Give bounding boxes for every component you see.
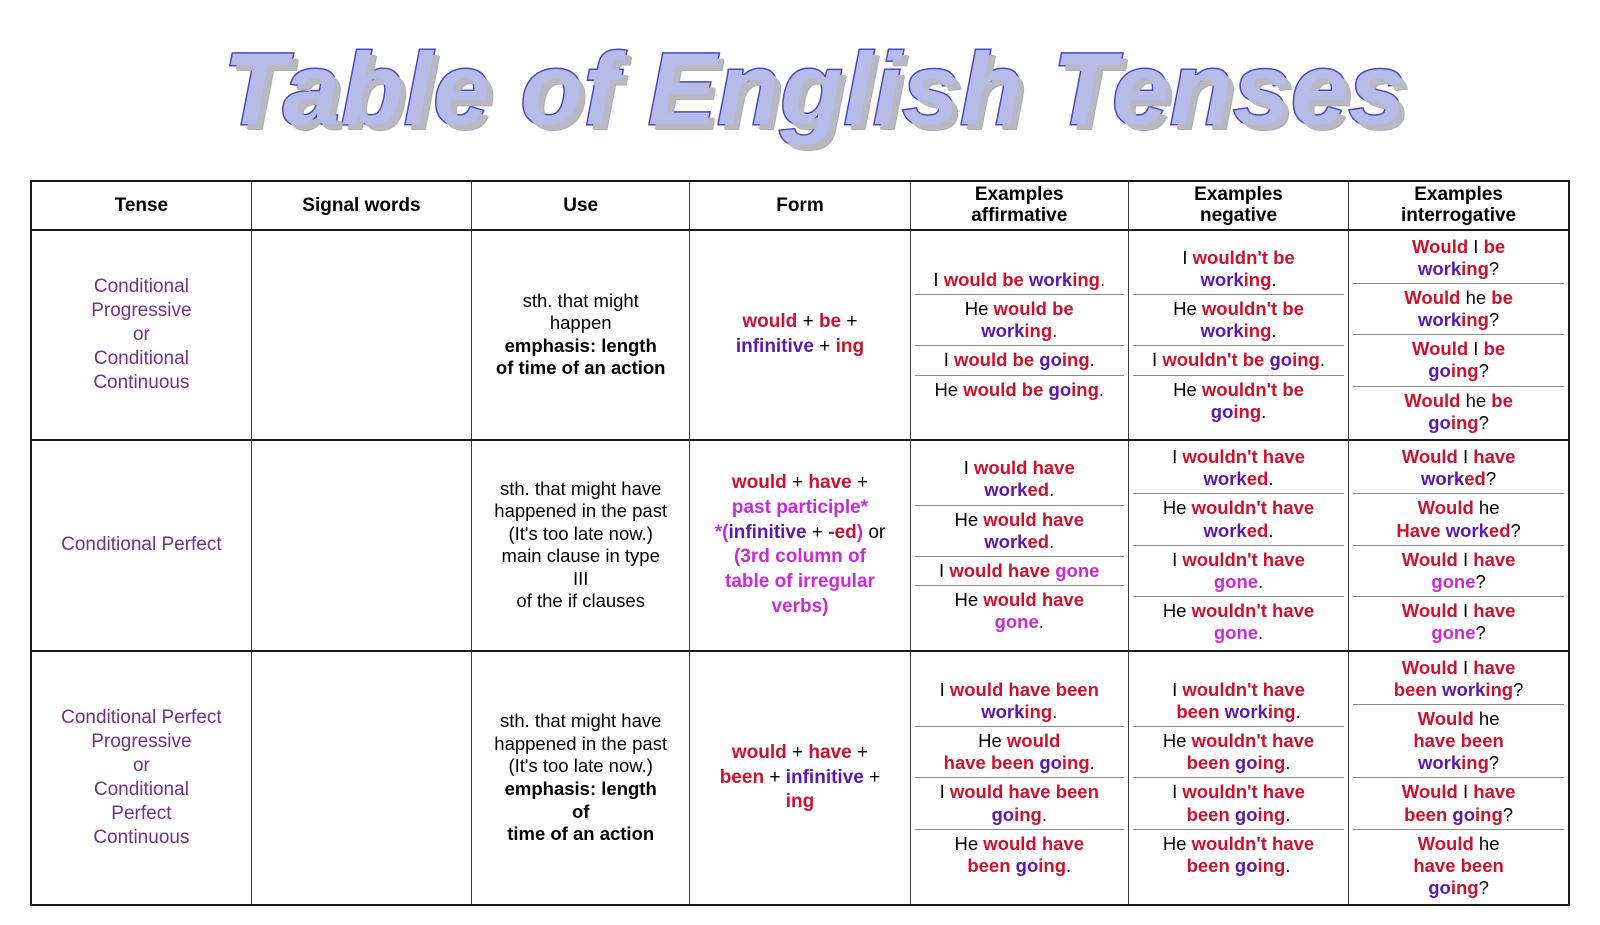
text-token: work: [984, 479, 1027, 500]
example-line: gone.: [1137, 571, 1340, 593]
text-token: I: [1172, 549, 1182, 570]
examples-list: Would I havebeen working?Would hehave be…: [1353, 654, 1564, 903]
text-token: work: [981, 701, 1024, 722]
example-line: Would he: [1357, 708, 1560, 730]
example-sentence: I would have beenworking.: [915, 676, 1124, 727]
text-token: gone: [1055, 560, 1099, 581]
example-line: He would have: [919, 833, 1120, 855]
example-row: I wouldn't havebeen working.: [1133, 676, 1344, 727]
text-token: or: [863, 522, 885, 543]
text-token: -ed: [828, 522, 857, 543]
text-token: ed: [1464, 468, 1486, 489]
example-line: going?: [1357, 877, 1560, 899]
use-line: sth. that might: [476, 290, 685, 313]
text-token: .: [1049, 479, 1054, 500]
header-row: TenseSignal wordsUseFormExamplesaffirmat…: [31, 181, 1569, 230]
text-token: would be: [963, 379, 1048, 400]
text-token: ing: [1268, 701, 1296, 722]
text-token: gone: [1214, 571, 1258, 592]
example-sentence: Would hehave beenworking?: [1353, 704, 1564, 778]
example-row: I would haveworked.: [915, 454, 1124, 505]
example-line: I would have: [919, 457, 1120, 479]
example-row: Would I havegone?: [1353, 545, 1564, 596]
title-banner: Table of English Tenses: [0, 0, 1600, 180]
use-line: of time of an action: [476, 357, 685, 380]
text-token: wouldn't be: [1202, 379, 1304, 400]
text-token: past participle*: [732, 497, 868, 518]
text-token: been: [1187, 804, 1235, 825]
form-line: ing: [694, 790, 905, 815]
tense-line: Conditional Perfect: [36, 533, 247, 557]
example-sentence: He wouldn't havebeen going.: [1133, 829, 1344, 880]
text-token: would have been: [950, 781, 1099, 802]
header-line-2: interrogative: [1353, 205, 1564, 226]
text-token: wouldn't be: [1162, 349, 1269, 370]
column-header-examples-affirmative: Examplesaffirmative: [910, 181, 1128, 230]
text-token: ?: [1513, 679, 1523, 700]
text-token: work: [1442, 679, 1485, 700]
text-token: go: [1235, 804, 1258, 825]
example-line: I wouldn't have: [1137, 446, 1340, 468]
example-row: Would I begoing?: [1353, 335, 1564, 386]
example-line: worked.: [1137, 468, 1340, 490]
text-token: ing: [1244, 269, 1272, 290]
text-token: wouldn't have: [1192, 600, 1315, 621]
text-token: Have: [1396, 520, 1445, 541]
example-line: He would be: [919, 298, 1120, 320]
example-line: going.: [919, 804, 1120, 826]
example-line: working.: [919, 701, 1120, 723]
example-line: been working?: [1357, 679, 1560, 701]
text-token: be: [1484, 236, 1506, 257]
text-token: .: [1039, 611, 1044, 632]
text-token: infinitive: [736, 336, 814, 357]
text-token: +: [787, 742, 809, 763]
example-row: He wouldn't haveworked.: [1133, 494, 1344, 545]
text-token: I: [1458, 781, 1473, 802]
text-token: ing: [1451, 360, 1479, 381]
example-sentence: I wouldn't havebeen working.: [1133, 676, 1344, 727]
example-line: Would I have: [1357, 781, 1560, 803]
example-row: Would heHave worked?: [1353, 494, 1564, 545]
text-token: would have: [974, 457, 1075, 478]
example-line: He wouldn't be: [1137, 298, 1340, 320]
example-row: He wouldn't beworking.: [1133, 295, 1344, 346]
example-row: I wouldn't haveworked.: [1133, 443, 1344, 494]
example-row: He would be going.: [915, 375, 1124, 404]
header-line-1: Examples: [1133, 184, 1344, 205]
text-token: He: [1163, 730, 1192, 751]
text-token: work: [1418, 309, 1461, 330]
example-line: going?: [1357, 412, 1560, 434]
example-row: Would I havegone?: [1353, 597, 1564, 648]
example-line: I would be working.: [919, 269, 1120, 291]
text-token: Would: [1402, 781, 1458, 802]
text-token: ing: [1062, 752, 1090, 773]
text-token: ing: [1485, 679, 1513, 700]
example-row: He would havegone.: [915, 586, 1124, 637]
text-token: go: [991, 804, 1014, 825]
text-token: .: [1099, 379, 1104, 400]
header-line-2: affirmative: [915, 205, 1124, 226]
example-row: Would I beworking?: [1353, 233, 1564, 284]
text-token: have: [808, 472, 851, 493]
example-row: I wouldn't be going.: [1133, 346, 1344, 375]
text-token: would have: [949, 560, 1055, 581]
example-line: He would have: [919, 509, 1120, 531]
text-token: ?: [1511, 520, 1521, 541]
text-token: ?: [1479, 412, 1489, 433]
example-line: working?: [1357, 258, 1560, 280]
use-line: happened in the past: [476, 733, 685, 756]
text-token: he: [1474, 708, 1500, 729]
text-token: been: [720, 767, 764, 788]
form-line: would + have +: [694, 741, 905, 766]
text-token: ed: [1489, 520, 1511, 541]
example-row: Would I haveworked?: [1353, 443, 1564, 494]
text-token: ?: [1503, 804, 1513, 825]
example-sentence: He would havebeen going.: [915, 829, 1124, 880]
text-token: Would: [1412, 338, 1468, 359]
example-sentence: He wouldn't havebeen going.: [1133, 727, 1344, 778]
table-body: ConditionalProgressiveorConditionalConti…: [31, 230, 1569, 906]
example-sentence: He wouldn't begoing.: [1133, 375, 1344, 426]
use-line: of the if clauses: [476, 590, 685, 613]
text-token: ed: [1247, 520, 1269, 541]
example-row: Would he begoing?: [1353, 386, 1564, 437]
text-token: Would: [1402, 657, 1458, 678]
text-token: Would: [1402, 600, 1458, 621]
example-line: I wouldn't have: [1137, 679, 1340, 701]
use-line: emphasis: length: [476, 778, 685, 801]
text-token: go: [1428, 360, 1451, 381]
example-line: gone?: [1357, 571, 1560, 593]
example-line: been going?: [1357, 804, 1560, 826]
example-line: Would I have: [1357, 446, 1560, 468]
text-token: been: [1187, 752, 1235, 773]
example-sentence: I wouldn't beworking.: [1133, 244, 1344, 295]
example-row: I would have gone: [915, 556, 1124, 585]
text-token: I: [1468, 236, 1483, 257]
text-token: work: [981, 320, 1024, 341]
example-row: He would havebeen going.: [915, 829, 1124, 880]
example-line: gone.: [919, 611, 1120, 633]
tense-label: Conditional PerfectProgressiveorConditio…: [36, 706, 247, 850]
form-line: *(infinitive + -ed) or: [694, 521, 905, 546]
tense-line: Progressive: [36, 730, 247, 754]
text-token: would: [732, 472, 787, 493]
text-token: +: [864, 767, 880, 788]
use-line: sth. that might have: [476, 478, 685, 501]
use-line: main clause in type: [476, 545, 685, 568]
text-token: wouldn't have: [1182, 781, 1305, 802]
text-token: .: [1052, 701, 1057, 722]
tense-label: Conditional Perfect: [36, 533, 247, 557]
text-token: ing: [1014, 804, 1042, 825]
example-sentence: Would I havegone?: [1353, 545, 1564, 596]
header-line-1: Tense: [36, 195, 247, 216]
text-token: wouldn't have: [1182, 679, 1305, 700]
text-token: I: [964, 457, 974, 478]
use-line: time of an action: [476, 823, 685, 846]
example-line: gone?: [1357, 622, 1560, 644]
example-sentence: Would heHave worked?: [1353, 494, 1564, 545]
example-line: Would he be: [1357, 287, 1560, 309]
example-line: He wouldn't have: [1137, 730, 1340, 752]
text-token: .: [1261, 401, 1266, 422]
tense-line: Conditional: [36, 347, 247, 371]
text-token: would be: [954, 349, 1039, 370]
tense-cell: Conditional PerfectProgressiveorConditio…: [31, 651, 251, 906]
example-sentence: I would haveworked.: [915, 454, 1124, 505]
text-token: have: [1473, 446, 1515, 467]
text-token: been: [967, 855, 1015, 876]
text-token: been: [1176, 701, 1224, 722]
use-line: of: [476, 801, 685, 824]
text-token: .: [1285, 855, 1290, 876]
text-token: (3rd column of: [734, 546, 866, 567]
text-token: be: [819, 311, 841, 332]
text-token: have been: [1413, 730, 1504, 751]
example-line: I would have gone: [919, 560, 1120, 582]
text-token: I: [944, 349, 954, 370]
text-token: I: [1468, 338, 1483, 359]
form-line: would + have +: [694, 471, 905, 496]
tense-line: Perfect: [36, 802, 247, 826]
text-token: gone: [995, 611, 1039, 632]
form-line: past participle*: [694, 496, 905, 521]
example-line: been going.: [1137, 804, 1340, 826]
example-line: been going.: [1137, 752, 1340, 774]
text-token: I: [940, 781, 950, 802]
example-row: He wouldn't havebeen going.: [1133, 829, 1344, 880]
example-row: I wouldn't havegone.: [1133, 545, 1344, 596]
text-token: .: [1042, 804, 1047, 825]
text-token: wouldn't have: [1182, 446, 1305, 467]
example-line: I wouldn't have: [1137, 549, 1340, 571]
text-token: ing: [1024, 320, 1052, 341]
example-row: Would he beworking?: [1353, 283, 1564, 334]
header-line-1: Examples: [1353, 184, 1564, 205]
example-line: Would I be: [1357, 338, 1560, 360]
form-line: been + infinitive +: [694, 766, 905, 791]
text-token: work: [984, 531, 1027, 552]
text-token: would: [742, 311, 797, 332]
example-line: Would I have: [1357, 549, 1560, 571]
text-token: have: [1473, 657, 1515, 678]
text-token: ing: [1244, 320, 1272, 341]
text-token: ing: [1292, 349, 1320, 370]
text-token: He: [1173, 379, 1202, 400]
text-token: work: [1204, 520, 1247, 541]
text-token: wouldn't have: [1192, 730, 1315, 751]
text-token: ing: [1461, 309, 1489, 330]
example-sentence: Would he begoing?: [1353, 386, 1564, 437]
text-token: He: [965, 298, 994, 319]
text-token: ing: [1258, 804, 1286, 825]
text-token: +: [814, 336, 836, 357]
example-line: working.: [1137, 269, 1340, 291]
example-line: have been going.: [919, 752, 1120, 774]
page-title: Table of English Tenses: [223, 36, 1406, 143]
text-token: I: [1458, 600, 1473, 621]
table-row: Conditional Perfectsth. that might haveh…: [31, 440, 1569, 651]
text-token: .: [1052, 320, 1057, 341]
examples-affirmative-cell: I would haveworked.He would haveworked.I…: [910, 440, 1128, 651]
text-token: ed: [1247, 468, 1269, 489]
example-sentence: He would beworking.: [915, 295, 1124, 346]
example-sentence: Would I haveworked?: [1353, 443, 1564, 494]
text-token: infinitive: [728, 522, 806, 543]
example-line: He would have: [919, 589, 1120, 611]
header-line-1: Examples: [915, 184, 1124, 205]
text-token: ing: [1451, 412, 1479, 433]
text-token: go: [1428, 877, 1451, 898]
example-line: Would he: [1357, 833, 1560, 855]
text-token: would have: [983, 589, 1084, 610]
example-sentence: I wouldn't be going.: [1133, 346, 1344, 375]
text-token: +: [841, 311, 857, 332]
tense-cell: ConditionalProgressiveorConditionalConti…: [31, 230, 251, 441]
example-row: I would be going.: [915, 346, 1124, 375]
text-token: he: [1474, 833, 1500, 854]
example-sentence: He wouldn't haveworked.: [1133, 494, 1344, 545]
column-header-form: Form: [690, 181, 910, 230]
text-token: ?: [1486, 468, 1496, 489]
text-token: work: [1225, 701, 1268, 722]
examples-negative-cell: I wouldn't havebeen working.He wouldn't …: [1128, 651, 1348, 906]
text-token: .: [1296, 701, 1301, 722]
text-token: I: [1172, 781, 1182, 802]
examples-list: I would haveworked.He would haveworked.I…: [915, 454, 1124, 636]
example-sentence: I would be working.: [915, 266, 1124, 295]
text-token: ing: [1461, 258, 1489, 279]
text-token: been: [1187, 855, 1235, 876]
text-token: go: [1016, 855, 1039, 876]
text-token: *(: [715, 522, 729, 543]
text-token: Would: [1418, 497, 1474, 518]
text-token: ing: [1258, 855, 1286, 876]
english-tenses-table: TenseSignal wordsUseFormExamplesaffirmat…: [30, 180, 1570, 906]
example-line: working?: [1357, 752, 1560, 774]
example-line: been going.: [919, 855, 1120, 877]
text-token: would: [1007, 730, 1060, 751]
text-token: .: [1271, 269, 1276, 290]
text-token: He: [954, 589, 983, 610]
text-token: .: [1258, 571, 1263, 592]
text-token: ?: [1479, 877, 1489, 898]
examples-negative-cell: I wouldn't haveworked.He wouldn't havewo…: [1128, 440, 1348, 651]
example-sentence: I wouldn't havebeen going.: [1133, 778, 1344, 829]
text-token: .: [1090, 349, 1095, 370]
use-cell: sth. that might havehappened in the past…: [472, 440, 690, 651]
form-cell: would + have +past participle**(infiniti…: [690, 440, 910, 651]
text-token: ing: [1071, 379, 1099, 400]
text-token: have: [1473, 781, 1515, 802]
example-sentence: He wouldhave been going.: [915, 727, 1124, 778]
example-row: I would be working.: [915, 266, 1124, 295]
examples-negative-cell: I wouldn't beworking.He wouldn't beworki…: [1128, 230, 1348, 441]
text-token: wouldn't be: [1193, 247, 1295, 268]
example-line: He would: [919, 730, 1120, 752]
example-line: been going.: [1137, 855, 1340, 877]
text-token: go: [1049, 379, 1072, 400]
example-row: He would haveworked.: [915, 505, 1124, 556]
example-line: worked.: [919, 479, 1120, 501]
text-token: he: [1460, 287, 1491, 308]
text-token: +: [764, 767, 786, 788]
text-token: Would: [1418, 708, 1474, 729]
text-token: have: [808, 742, 851, 763]
column-header-signal-words: Signal words: [251, 181, 471, 230]
example-line: Would I be: [1357, 236, 1560, 258]
text-token: table of irregular: [725, 571, 875, 592]
text-token: infinitive: [786, 767, 864, 788]
tense-line: Continuous: [36, 826, 247, 850]
text-token: Would: [1402, 446, 1458, 467]
text-token: +: [797, 311, 819, 332]
text-token: He: [1163, 600, 1192, 621]
example-sentence: I would have beengoing.: [915, 778, 1124, 829]
text-token: been: [1404, 804, 1452, 825]
text-token: be: [1484, 338, 1506, 359]
examples-list: I wouldn't beworking.He wouldn't beworki…: [1133, 244, 1344, 426]
text-token: +: [852, 742, 868, 763]
text-token: +: [807, 522, 829, 543]
example-line: Would I have: [1357, 600, 1560, 622]
text-token: I: [1172, 679, 1182, 700]
example-row: Would hehave beenworking?: [1353, 704, 1564, 778]
example-sentence: Would hehave beengoing?: [1353, 829, 1564, 902]
text-token: have been: [1413, 855, 1504, 876]
text-token: .: [1285, 804, 1290, 825]
text-token: He: [1163, 497, 1192, 518]
text-token: ing: [786, 791, 815, 812]
examples-list: I wouldn't havebeen working.He wouldn't …: [1133, 676, 1344, 881]
example-sentence: Would I havebeen working?: [1353, 654, 1564, 705]
text-token: ing: [1062, 349, 1090, 370]
text-token: .: [1320, 349, 1325, 370]
table-row: ConditionalProgressiveorConditionalConti…: [31, 230, 1569, 441]
tense-line: or: [36, 754, 247, 778]
header-line-1: Signal words: [256, 195, 467, 216]
text-token: wouldn't have: [1192, 497, 1315, 518]
example-row: I wouldn't beworking.: [1133, 244, 1344, 295]
text-token: would be: [944, 269, 1029, 290]
signal-words-cell: [251, 440, 471, 651]
example-sentence: He would haveworked.: [915, 505, 1124, 556]
column-header-examples-negative: Examplesnegative: [1128, 181, 1348, 230]
text-token: Would: [1404, 390, 1460, 411]
use-line: (It's too late now.): [476, 755, 685, 778]
example-sentence: Would I beworking?: [1353, 233, 1564, 284]
examples-list: I wouldn't haveworked.He wouldn't havewo…: [1133, 443, 1344, 648]
example-row: Would I havebeen working?: [1353, 654, 1564, 705]
use-cell: sth. that mighthappenemphasis: lengthof …: [472, 230, 690, 441]
example-row: I wouldn't havebeen going.: [1133, 778, 1344, 829]
text-token: work: [1421, 468, 1464, 489]
text-token: gone: [1214, 622, 1258, 643]
text-token: I: [940, 679, 950, 700]
example-line: I wouldn't be: [1137, 247, 1340, 269]
text-token: .: [1100, 269, 1105, 290]
examples-list: I would have beenworking.He wouldhave be…: [915, 676, 1124, 881]
text-token: +: [787, 472, 809, 493]
signal-words-cell: [251, 651, 471, 906]
text-token: work: [1446, 520, 1489, 541]
column-header-use: Use: [472, 181, 690, 230]
example-row: He wouldn't havebeen going.: [1133, 727, 1344, 778]
